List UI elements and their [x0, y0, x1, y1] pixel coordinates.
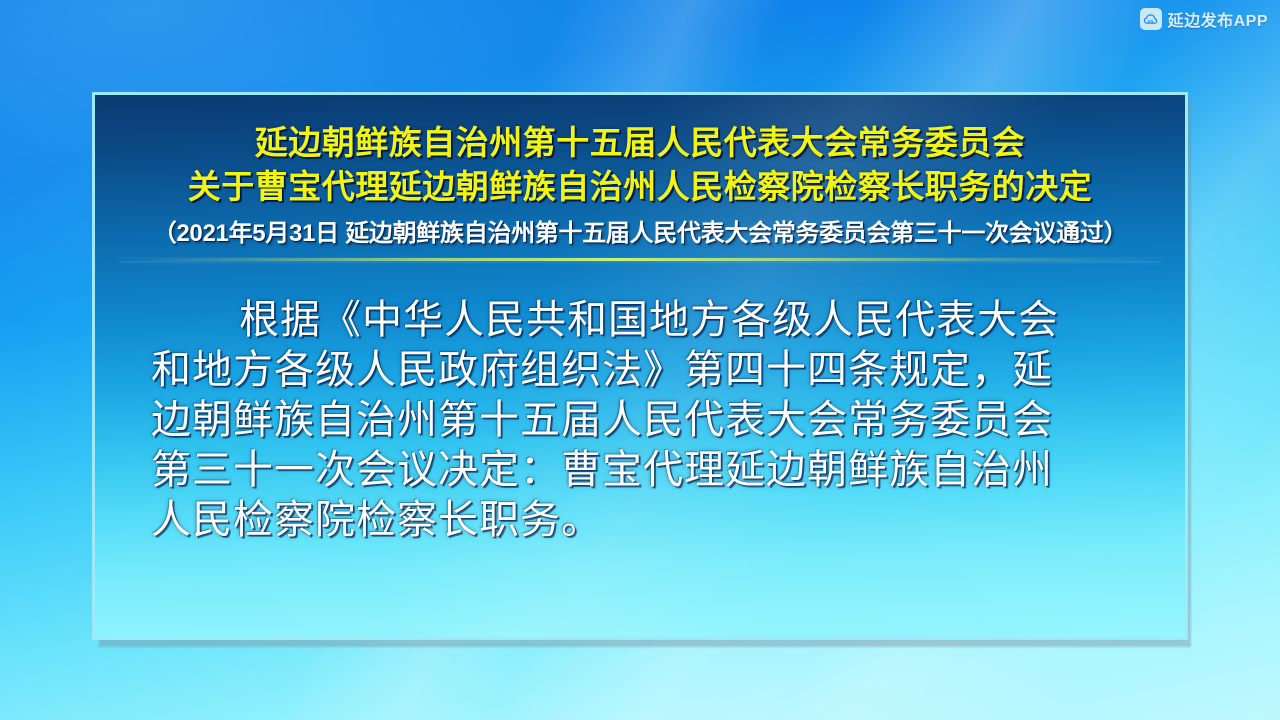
document-panel: 延边朝鲜族自治州第十五届人民代表大会常务委员会 关于曹宝代理延边朝鲜族自治州人民… [92, 92, 1188, 640]
heading-divider [120, 258, 1160, 261]
body-line: 根据《中华人民共和国地方各级人民代表大会 [151, 295, 1129, 345]
body-line: 边朝鲜族自治州第十五届人民代表大会常务委员会 [151, 395, 1129, 445]
document-subtitle: （2021年5月31日 延边朝鲜族自治州第十五届人民代表大会常务委员会第三十一次… [95, 218, 1185, 250]
watermark-label: 延边发布APP [1168, 7, 1268, 31]
document-title-line-1: 延边朝鲜族自治州第十五届人民代表大会常务委员会 [95, 121, 1185, 165]
broadcast-slide: 延边发布APP 延边朝鲜族自治州第十五届人民代表大会常务委员会 关于曹宝代理延边… [0, 0, 1280, 720]
body-line: 人民检察院检察长职务。 [151, 495, 1129, 545]
app-watermark: 延边发布APP [1140, 7, 1268, 31]
body-line: 第三十一次会议决定：曹宝代理延边朝鲜族自治州 [151, 445, 1129, 495]
cloud-logo-icon [1140, 8, 1162, 30]
document-body: 根据《中华人民共和国地方各级人民代表大会 和地方各级人民政府组织法》第四十四条规… [95, 295, 1185, 545]
document-title-line-2: 关于曹宝代理延边朝鲜族自治州人民检察院检察长职务的决定 [95, 165, 1185, 209]
heading-block: 延边朝鲜族自治州第十五届人民代表大会常务委员会 关于曹宝代理延边朝鲜族自治州人民… [95, 95, 1185, 250]
body-line: 和地方各级人民政府组织法》第四十四条规定，延 [151, 345, 1129, 395]
